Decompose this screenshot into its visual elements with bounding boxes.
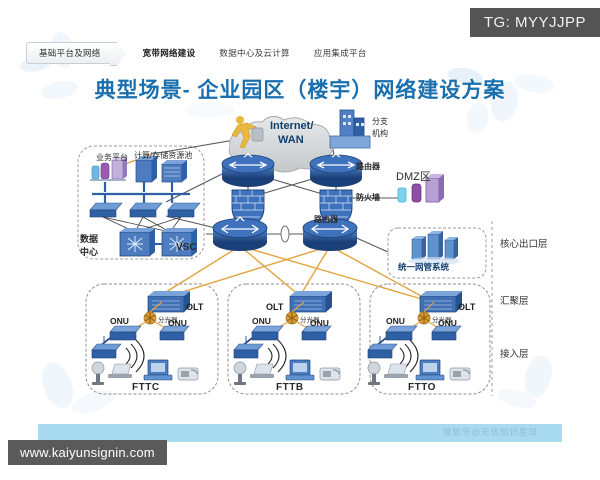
resource-pool-label: 计算/存储资源池 xyxy=(134,150,192,161)
desktop-endpoint-icon xyxy=(286,360,314,380)
firewall-label: 防火墙 xyxy=(356,192,380,203)
router-left-icon xyxy=(222,154,274,187)
datacenter-label-line1: 数据 xyxy=(80,232,98,245)
url-badge: www.kaiyunsignin.com xyxy=(8,440,167,465)
source-watermark: 搜狐号@无忧知识星球 xyxy=(443,426,538,438)
tg-badge: TG: MYYJJPP xyxy=(470,8,600,37)
access-group-name-fttc: FTTC xyxy=(132,382,160,393)
desktop-endpoint-icon xyxy=(144,360,172,380)
dc-switch-icon xyxy=(90,203,122,217)
onu-label-ftto-right: ONU xyxy=(438,318,457,328)
access-group-fttc xyxy=(92,291,198,385)
tab-platform-network[interactable]: 基础平台及网络 xyxy=(26,42,117,64)
branch-office-building-icon xyxy=(330,110,370,148)
phone-endpoint-icon xyxy=(178,368,198,380)
datacenter-label-line2: 中心 xyxy=(80,245,98,258)
laptop-endpoint-icon xyxy=(384,364,408,378)
onu-label-fttc-left: ONU xyxy=(110,316,129,326)
nms-label: 统一网管系统 xyxy=(398,261,449,273)
onu-label-fttc-right: ONU xyxy=(168,318,187,328)
slide-canvas: TG: MYYJJPP 基础平台及网络 宽带网络建设 数据中心及云计算 应用集成… xyxy=(0,0,600,480)
access-group-name-fttb: FTTB xyxy=(276,382,304,393)
service-platform-label: 业务平台 xyxy=(96,152,128,163)
olt-label-fttc: OLT xyxy=(186,302,203,312)
tab-app-integration[interactable]: 应用集成平台 xyxy=(302,42,379,64)
layer-label-core: 核心出口层 xyxy=(500,236,548,250)
phone-endpoint-icon xyxy=(320,368,340,380)
olt-label-ftto: OLT xyxy=(458,302,475,312)
onu-label-fttb-left: ONU xyxy=(252,316,271,326)
laptop-endpoint-icon xyxy=(250,364,274,378)
cloud-label-line2: WAN xyxy=(278,134,304,146)
router-top-label: 路由器 xyxy=(356,161,380,172)
dc-switch-icon xyxy=(168,203,200,217)
access-group-ftto xyxy=(368,291,470,385)
network-diagram: Internet/ WAN 分支 机构 路由器 防火墙 DMZ区 路由器 统一网… xyxy=(0,106,600,416)
onu-label-ftto-left: ONU xyxy=(386,316,405,326)
dmz-label: DMZ区 xyxy=(396,168,431,184)
nms-servers-icon xyxy=(408,231,460,265)
branch-office-label-line1: 分支 xyxy=(372,116,388,127)
onu-label-fttb-right: ONU xyxy=(310,318,329,328)
access-group-name-ftto: FTTO xyxy=(408,382,436,393)
diagram-svg xyxy=(0,106,600,416)
camera-endpoint-icon xyxy=(92,362,104,385)
core-router-label: 路由器 xyxy=(314,214,338,225)
branch-office-label-line2: 机构 xyxy=(372,128,388,139)
desktop-endpoint-icon xyxy=(416,360,444,380)
vsc-label: VSC xyxy=(176,242,197,253)
tab-bar: 基础平台及网络 宽带网络建设 数据中心及云计算 应用集成平台 xyxy=(26,42,379,64)
laptop-endpoint-icon xyxy=(108,364,132,378)
phone-endpoint-icon xyxy=(450,368,470,380)
page-title: 典型场景- 企业园区（楼宇）网络建设方案 xyxy=(0,74,600,104)
camera-endpoint-icon xyxy=(234,362,246,385)
camera-endpoint-icon xyxy=(368,362,380,385)
tab-broadband-network[interactable]: 宽带网络建设 xyxy=(131,42,208,64)
access-group-fttb xyxy=(234,291,340,385)
layer-label-aggregation: 汇聚层 xyxy=(500,293,529,307)
olt-label-fttb: OLT xyxy=(266,302,283,312)
cloud-label-line1: Internet/ xyxy=(270,120,313,132)
core-router-left-icon xyxy=(213,217,267,251)
layer-label-access: 接入层 xyxy=(500,346,529,360)
router-right-icon xyxy=(310,154,362,187)
tab-datacenter-cloud[interactable]: 数据中心及云计算 xyxy=(207,42,301,64)
dc-switch-icon xyxy=(130,203,162,217)
